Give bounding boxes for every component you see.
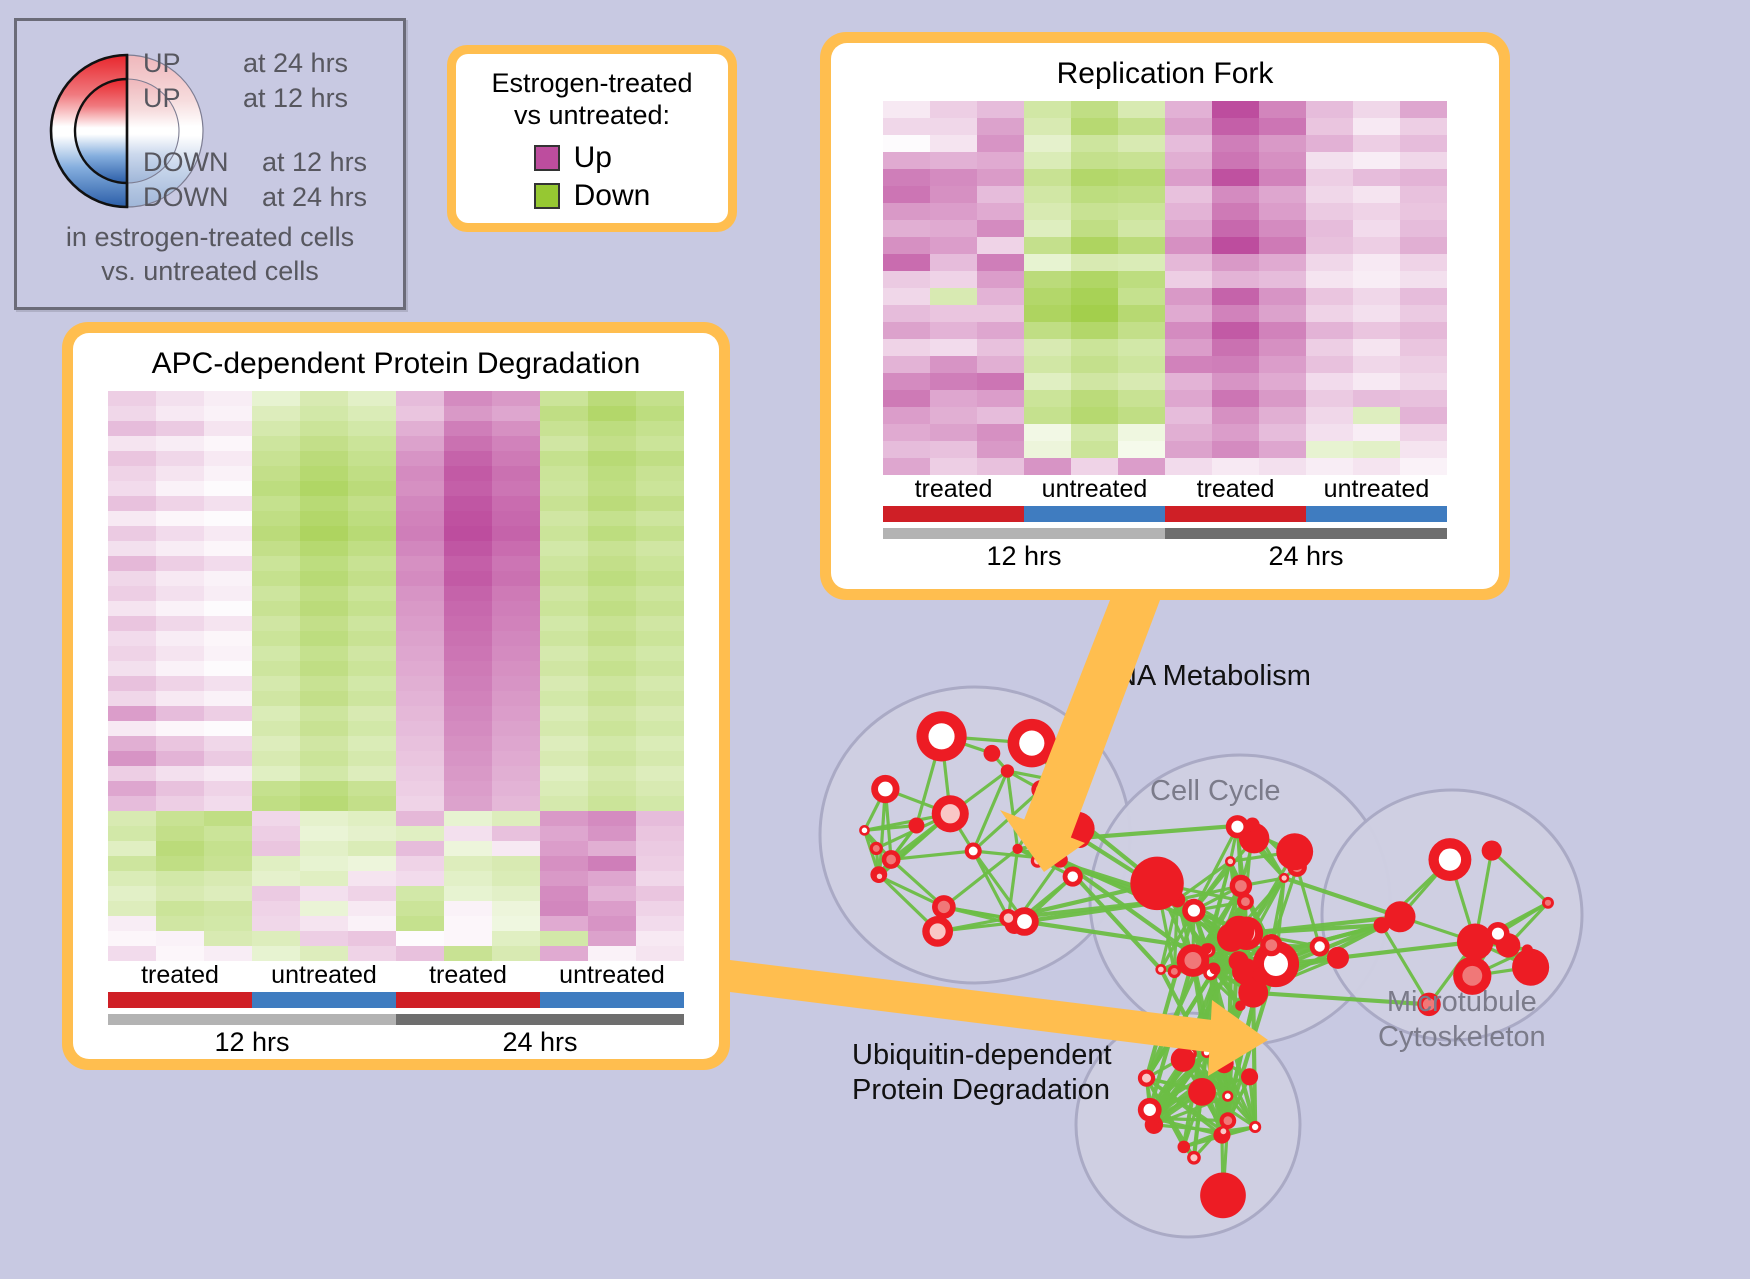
heatmap-cell [977,356,1024,373]
heatmap-cell [540,901,588,916]
heatmap-cell [1165,169,1212,186]
heatmap-cell [108,901,156,916]
heatmap-cell [444,391,492,406]
heatmap-cell [883,288,930,305]
heatmap-cell [636,826,684,841]
heatmap-cell [396,841,444,856]
heatmap-cell [1306,322,1353,339]
heatmap-cell [1306,305,1353,322]
heatmap-cell [396,511,444,526]
heatmap-cell [204,421,252,436]
heatmap-cell [1071,356,1118,373]
heatmap-cell [396,586,444,601]
network-node-core [1190,1154,1197,1161]
network-node-core [1144,1104,1156,1116]
heatmap-cell [252,511,300,526]
heatmap-cell [348,931,396,946]
heatmap-cell [1118,237,1165,254]
heatmap-cell [252,826,300,841]
heatmap-cell [588,781,636,796]
heatmap-cell [204,601,252,616]
heatmap-cell [930,118,977,135]
heatmap-cell [492,511,540,526]
heatmap-cell [1353,390,1400,407]
heatmap-cell [1165,237,1212,254]
heatmap-cell [588,466,636,481]
heatmap-cell [348,466,396,481]
colorwheel-note: in estrogen-treated cells vs. untreated … [17,221,403,289]
heatmap-cell [396,796,444,811]
network-node-core [1492,928,1504,940]
network-node-core [1017,914,1032,929]
heatmap-cell [300,496,348,511]
heatmap-cell [204,496,252,511]
panel-apc-degradation-title: APC-dependent Protein Degradation [152,347,641,381]
network-node-core [1188,904,1200,916]
heatmap-cell [588,406,636,421]
heatmap-cell [444,451,492,466]
heatmap-cell [348,481,396,496]
heatmap-cell [1024,441,1071,458]
heatmap-cell [444,631,492,646]
heatmap-cell [204,931,252,946]
heatmap-cell [492,661,540,676]
panel-replication-fork-title: Replication Fork [1057,57,1274,91]
heatmap-cell [108,676,156,691]
heatmap-cell [636,691,684,706]
updown-legend-title-line1: Estrogen-treated [491,68,692,99]
heatmap-cell [444,571,492,586]
heatmap-cell [396,871,444,886]
heatmap-cell [252,916,300,931]
heatmap-cell [588,646,636,661]
heatmap-cell [108,751,156,766]
heatmap-cell [977,237,1024,254]
heatmap-cell [1071,373,1118,390]
heatmap-cell [977,390,1024,407]
heatmap-cell [1259,305,1306,322]
heatmap-cell [300,916,348,931]
heatmap-cell [348,781,396,796]
heatmap-cell [977,220,1024,237]
heatmap-cell [396,556,444,571]
heatmap-cell [252,856,300,871]
heatmap-cell [156,601,204,616]
heatmap-cell [1306,373,1353,390]
heatmap-cell [930,254,977,271]
heatmap-cell [492,706,540,721]
cond-label-rep-0: treated [883,475,1024,504]
network-node-core [1462,966,1482,986]
heatmap-cell [977,271,1024,288]
heatmap-cell [588,511,636,526]
heatmap-cell [492,496,540,511]
heatmap-cell [1024,424,1071,441]
heatmap-cell [883,322,930,339]
heatmap-cell [588,496,636,511]
network-node-core [1225,1093,1231,1099]
heatmap-cell [540,691,588,706]
heatmap-cell [300,946,348,961]
wheel-row-3-time: at 24 hrs [262,182,367,213]
heatmap-cell [1400,220,1447,237]
heatmap-cell [540,526,588,541]
heatmap-cell [204,406,252,421]
heatmap-cell [396,421,444,436]
heatmap-cell [252,586,300,601]
heatmap-cell [204,751,252,766]
wheel-row-2-direction: DOWN [143,147,228,178]
cond-bar-apc-treated-12 [108,992,252,1008]
heatmap-cell [348,736,396,751]
heatmap-cell [444,466,492,481]
heatmap-cell [444,436,492,451]
heatmap-cell [1400,101,1447,118]
heatmap-cell [540,496,588,511]
heatmap-cell [492,721,540,736]
square-swatch-down-icon [534,183,560,209]
heatmap-cell [348,526,396,541]
heatmap-cell [204,901,252,916]
network-node-core [938,901,950,913]
heatmap-cell [300,781,348,796]
heatmap-cell [252,781,300,796]
heatmap-cell [1212,305,1259,322]
heatmap-cell [300,616,348,631]
heatmap-cell [883,305,930,322]
heatmap-cell [540,391,588,406]
heatmap-cell [540,676,588,691]
heatmap-cell [396,931,444,946]
heatmap-cell [396,616,444,631]
heatmap-cell [588,616,636,631]
heatmap-cell [444,751,492,766]
heatmap-cell [883,339,930,356]
heatmap-cell [492,601,540,616]
heatmap-cell [1118,271,1165,288]
heatmap-cell [636,586,684,601]
heatmap-cell [444,841,492,856]
heatmap-cell [588,556,636,571]
heatmap-cell [156,406,204,421]
cond-label-apc-3: untreated [540,961,684,990]
cond-label-apc-2: treated [396,961,540,990]
heatmap-cell [1165,322,1212,339]
heatmap-cell [1400,424,1447,441]
heatmap-cell [1071,305,1118,322]
heatmap-cell [883,135,930,152]
heatmap-cell [1306,271,1353,288]
heatmap-cell [1118,322,1165,339]
heatmap-cell [252,406,300,421]
heatmap-cell [1212,220,1259,237]
heatmap-cell [1071,339,1118,356]
heatmap-cell [156,571,204,586]
heatmap-cell [252,811,300,826]
network-node [1245,818,1259,832]
heatmap-cell [636,631,684,646]
heatmap-cell [492,436,540,451]
heatmap-cell [348,421,396,436]
heatmap-cell [396,751,444,766]
heatmap-cell [156,391,204,406]
heatmap-cell [540,781,588,796]
heatmap-cell [1024,458,1071,475]
heatmap-cell [108,526,156,541]
heatmap-cell [348,661,396,676]
heatmap-cell [1306,407,1353,424]
heatmap-cell [1353,152,1400,169]
heatmap-cell [300,841,348,856]
panel-replication-fork-inner: Replication Fork treated untreated treat… [831,43,1499,589]
heatmap-cell [1024,271,1071,288]
heatmap-cell [588,691,636,706]
network-node-core [877,874,882,879]
cond-label-apc-0: treated [108,961,252,990]
heatmap-cell [444,736,492,751]
heatmap-cell [1400,373,1447,390]
heatmap-cell [1212,373,1259,390]
heatmap-cell [1353,322,1400,339]
heatmap-cell [396,391,444,406]
heatmap-cell [396,886,444,901]
time-labels-apc: 12 hrs 24 hrs [108,1027,684,1058]
heatmap-cell [1400,254,1447,271]
heatmap-cell [156,691,204,706]
heatmap-cell [1353,254,1400,271]
heatmap-cell [348,616,396,631]
heatmap-cell [492,391,540,406]
heatmap-cell [977,186,1024,203]
heatmap-cell [204,391,252,406]
heatmap-cell [444,511,492,526]
network-node [984,745,1001,762]
heatmap-cell [540,751,588,766]
heatmap-cell [1306,186,1353,203]
network-node-core [1067,871,1077,881]
heatmap-cell [204,466,252,481]
heatmap-cell [444,826,492,841]
heatmap-cell [108,586,156,601]
heatmap-cell [1306,237,1353,254]
network-node-core [1142,1074,1151,1083]
heatmap-cell [1024,203,1071,220]
heatmap-cell [1400,322,1447,339]
heatmap-cell [108,766,156,781]
network-node [1130,857,1183,910]
heatmap-cell [1400,458,1447,475]
heatmap-cell [396,946,444,961]
heatmap-cell [1165,288,1212,305]
heatmap-cell [444,556,492,571]
heatmap-cell [1259,101,1306,118]
heatmap-cell [204,541,252,556]
heatmap-cell [1306,390,1353,407]
heatmap-cell [977,169,1024,186]
heatmap-cell [492,646,540,661]
heatmap-cell [588,886,636,901]
network-node-core [1266,939,1278,951]
heatmap-cell [636,886,684,901]
heatmap-cell [1212,271,1259,288]
heatmap-cell [300,721,348,736]
heatmap-cell [1353,271,1400,288]
heatmap-cell [108,451,156,466]
heatmap-cell [108,946,156,961]
heatmap-cell [1212,203,1259,220]
heatmap-cell [1306,203,1353,220]
heatmap-cell [1165,203,1212,220]
heatmap-cell [1212,458,1259,475]
heatmap-cell [883,424,930,441]
cond-label-rep-2: treated [1165,475,1306,504]
heatmap-cell [348,436,396,451]
heatmap-cell [636,706,684,721]
heatmap-cell [252,481,300,496]
heatmap-cell [108,841,156,856]
heatmap-cell [977,407,1024,424]
heatmap-cell [1024,237,1071,254]
heatmap-cell [588,931,636,946]
heatmap-cell [396,601,444,616]
heatmap-cell [204,856,252,871]
heatmap-cell [930,220,977,237]
network-node [1522,944,1533,955]
heatmap-cell [444,796,492,811]
heatmap-cell [348,451,396,466]
network-node-core [1282,875,1287,880]
heatmap-cell [1212,152,1259,169]
heatmap-cell [252,871,300,886]
heatmap-cell [1306,220,1353,237]
heatmap-cell [108,706,156,721]
heatmap-cell [1259,169,1306,186]
heatmap-cell [1071,169,1118,186]
heatmap-cell [540,871,588,886]
condition-bar-rep [883,506,1447,522]
heatmap-cell [396,736,444,751]
network-node [1373,917,1389,933]
heatmap-cell [444,646,492,661]
heatmap-cell [252,616,300,631]
heatmap-cell [252,901,300,916]
heatmap-cell [348,811,396,826]
heatmap-cell [348,571,396,586]
heatmap-cell [156,661,204,676]
legend-item-down-label: Down [574,179,651,213]
heatmap-cell [1118,135,1165,152]
heatmap-cell [204,916,252,931]
heatmap-cell [540,601,588,616]
heatmap-cell [588,541,636,556]
heatmap-cell [156,646,204,661]
heatmap-cell [492,886,540,901]
heatmap-cell [348,871,396,886]
heatmap-cell [252,706,300,721]
heatmap-cell [977,118,1024,135]
heatmap-cell [492,691,540,706]
heatmap-cell [1400,169,1447,186]
time-label-apc-24: 24 hrs [396,1027,684,1058]
heatmap-cell [348,676,396,691]
heatmap-cell [492,421,540,436]
heatmap-cell [348,796,396,811]
heatmap-cell [930,458,977,475]
heatmap-cell [588,856,636,871]
heatmap-cell [444,721,492,736]
heatmap-cell [636,781,684,796]
heatmap-cell [540,736,588,751]
heatmap-cell [492,586,540,601]
heatmap-cell [300,451,348,466]
heatmap-cell [1165,135,1212,152]
heatmap-cell [636,496,684,511]
heatmap-cell [636,901,684,916]
heatmap-cell [348,406,396,421]
heatmap-cell [883,373,930,390]
heatmap-cell [636,946,684,961]
heatmap-cell [444,481,492,496]
heatmap-cell [300,871,348,886]
heatmap-cell [1024,152,1071,169]
network-node [1235,1000,1246,1011]
heatmap-cell [636,871,684,886]
heatmap-cell [636,916,684,931]
legend-item-up: Up [534,141,651,175]
heatmap-cell [1071,254,1118,271]
heatmap-cell [636,661,684,676]
heatmap-cell [977,424,1024,441]
heatmap-cell [492,841,540,856]
heatmap-cell [636,766,684,781]
heatmap-cell [396,466,444,481]
heatmap-cell [1400,135,1447,152]
network-node-core [1184,952,1201,969]
heatmap-cell [300,406,348,421]
updown-legend-items: Up Down [534,137,651,213]
network-node [1052,773,1067,788]
heatmap-cell [300,571,348,586]
heatmap-cell [300,811,348,826]
time-bar-apc [108,1014,684,1025]
heatmap-cell [108,856,156,871]
heatmap-cell [252,571,300,586]
heatmap-cell [1400,339,1447,356]
heatmap-cell [977,441,1024,458]
heatmap-cell [1165,152,1212,169]
heatmap-cell [540,946,588,961]
heatmap-cell [204,436,252,451]
heatmap-cell [300,826,348,841]
heatmap-cell [108,931,156,946]
heatmap-cell [252,631,300,646]
heatmap-cell [1259,322,1306,339]
heatmap-cell [636,751,684,766]
heatmap-cell [636,676,684,691]
heatmap-cell [636,481,684,496]
heatmap-cell [883,186,930,203]
heatmap-cell [156,736,204,751]
heatmap-cell [156,466,204,481]
heatmap-cell [1071,271,1118,288]
heatmap-cell [1118,458,1165,475]
heatmap-cell [204,511,252,526]
heatmap-cell [252,751,300,766]
heatmap-cell [540,841,588,856]
heatmap-cell [588,451,636,466]
heatmap-cell [1024,305,1071,322]
heatmap-cell [636,931,684,946]
